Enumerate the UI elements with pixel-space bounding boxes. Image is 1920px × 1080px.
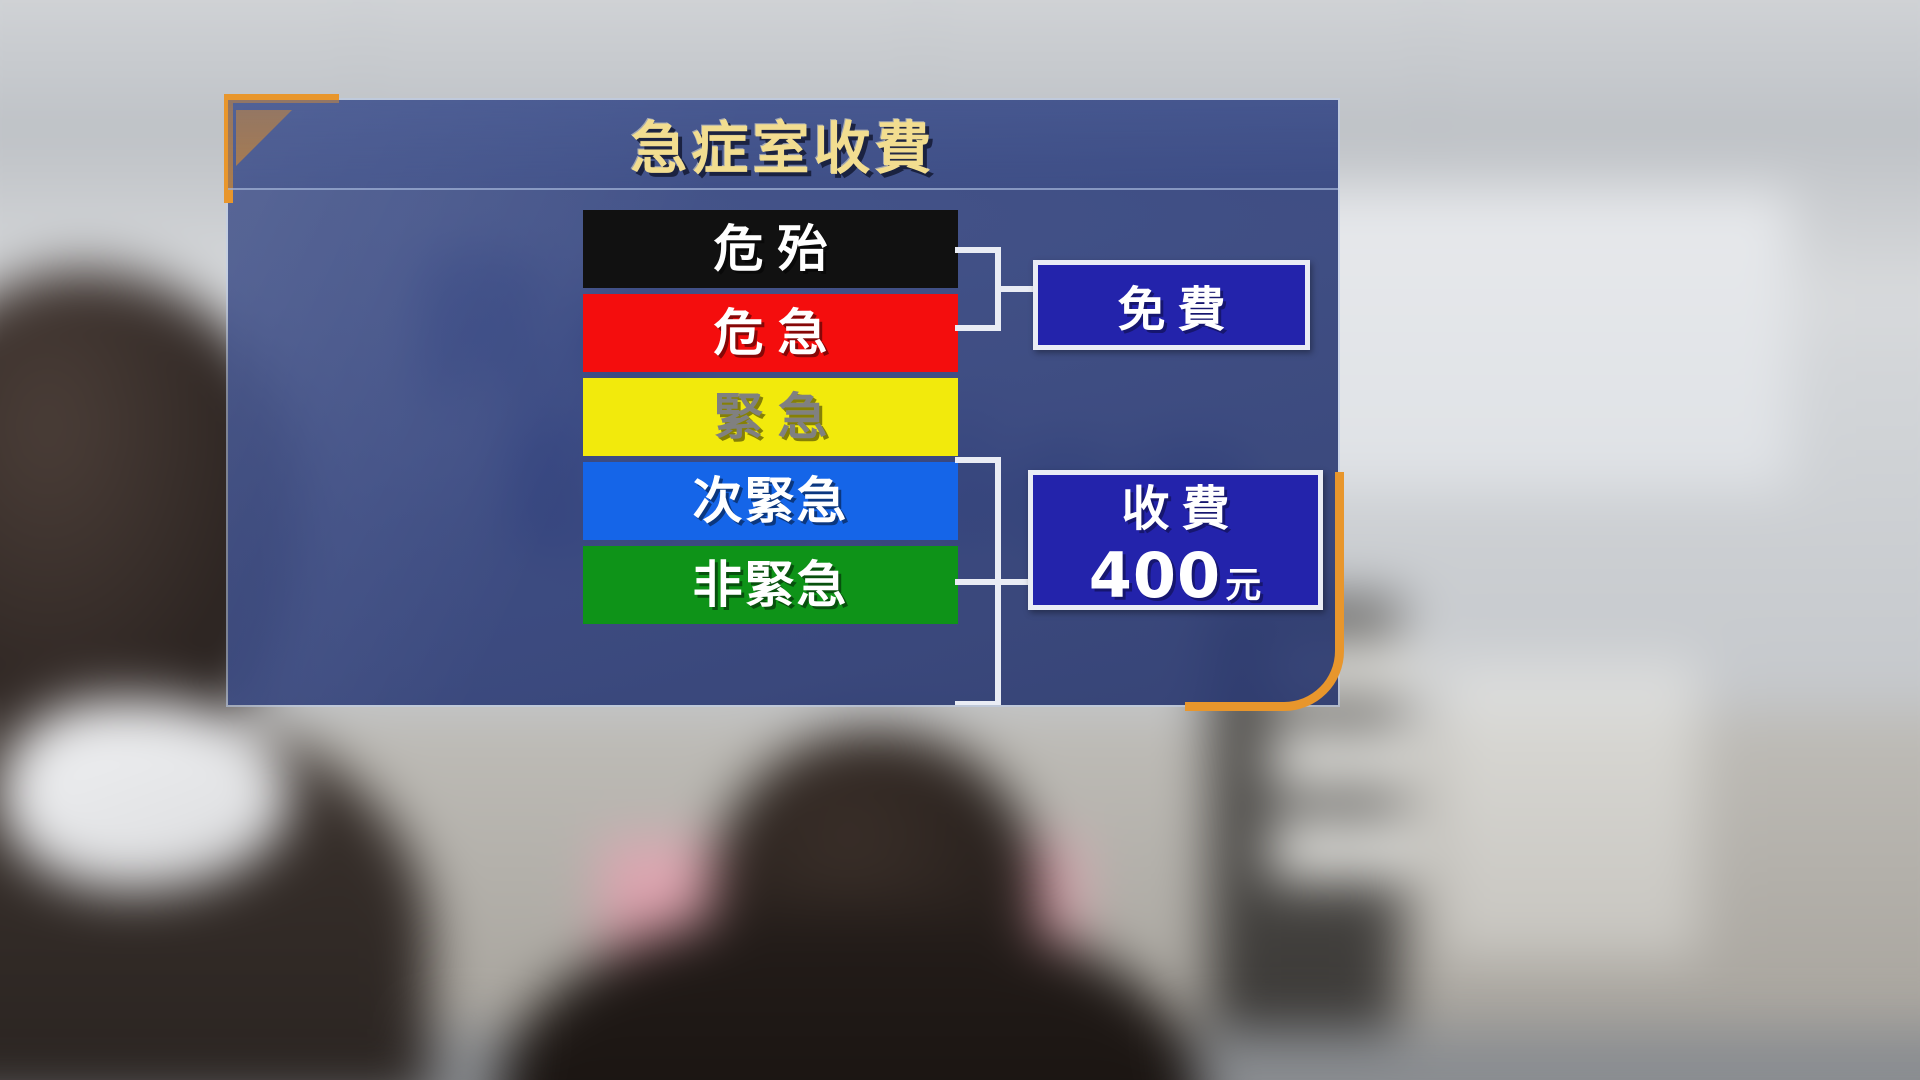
- outcome-free-label: 免費: [1105, 270, 1237, 340]
- triage-row: 危殆: [583, 210, 958, 288]
- triage-row-label: 非緊急: [693, 560, 849, 610]
- triage-category-list: 危殆 危急 緊急 次緊急 非緊急: [583, 210, 958, 630]
- screenshot-stage: Re Eration 急症室收費 危殆 危: [0, 0, 1920, 1080]
- page-title: 急症室收費: [228, 100, 1338, 188]
- outcome-charge-number: 400: [1089, 539, 1221, 612]
- triage-row: 次緊急: [583, 462, 958, 540]
- outcome-charge-amount: 400元: [1089, 539, 1262, 612]
- triage-row-label: 危急: [700, 308, 842, 358]
- outcome-charge-label: 收費: [1109, 469, 1241, 539]
- infographic-panel: 急症室收費 危殆 危急 緊急 次緊急 非緊急: [228, 100, 1338, 705]
- outcome-charge-unit: 元: [1225, 556, 1262, 608]
- triage-row-label: 危殆: [700, 224, 842, 274]
- triage-row: 非緊急: [583, 546, 958, 624]
- outcome-box-charge: 收費 400元: [1028, 470, 1323, 610]
- triage-row: 危急: [583, 294, 958, 372]
- triage-row-label: 緊急: [700, 392, 842, 442]
- triage-row: 緊急: [583, 378, 958, 456]
- triage-row-label: 次緊急: [693, 476, 849, 526]
- outcome-box-free: 免費: [1033, 260, 1310, 350]
